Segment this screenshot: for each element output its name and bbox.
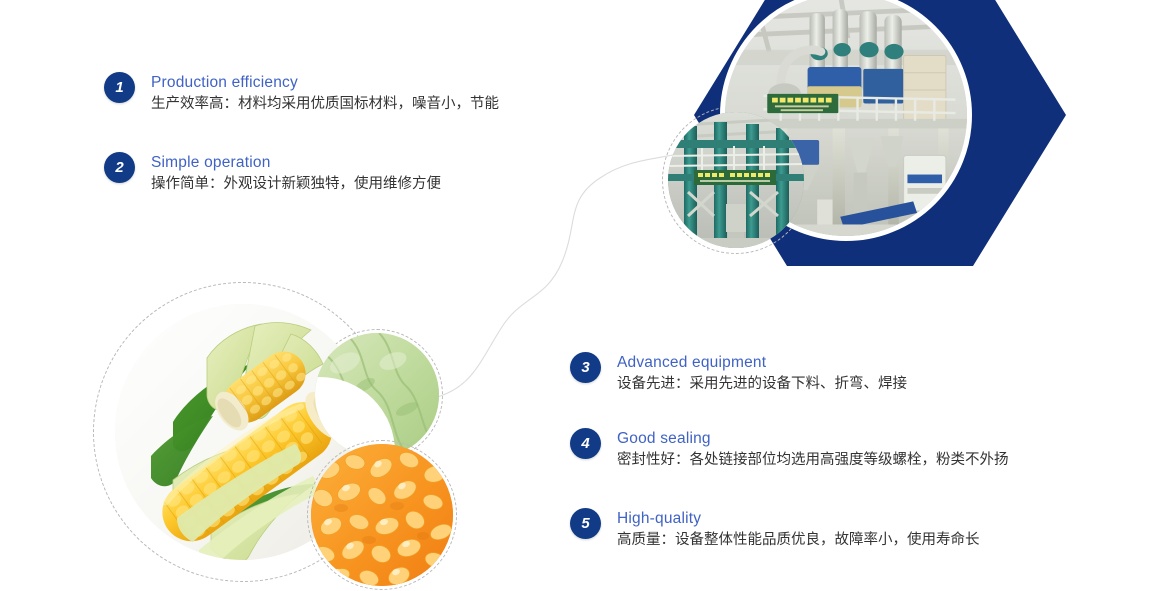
feature-title-2: Simple operation bbox=[151, 153, 441, 172]
feature-badge-1: 1 bbox=[104, 72, 135, 103]
feature-description-4: 密封性好：各处链接部位均选用高强度等级螺栓，粉类不外扬 bbox=[617, 450, 1009, 471]
feature-item-4: 4 Good sealing 密封性好：各处链接部位均选用高强度等级螺栓，粉类不… bbox=[570, 428, 1009, 471]
feature-item-2: 2 Simple operation 操作简单：外观设计新颖独特，使用维修方便 bbox=[104, 152, 441, 195]
feature-title-1: Production efficiency bbox=[151, 73, 499, 92]
feature-text-4: Good sealing 密封性好：各处链接部位均选用高强度等级螺栓，粉类不外扬 bbox=[617, 428, 1009, 471]
green-milling-line-photo bbox=[668, 112, 804, 248]
infographic-canvas: 1 Production efficiency 生产效率高：材料均采用优质国标材… bbox=[0, 0, 1154, 591]
corn-media-group bbox=[93, 282, 453, 591]
feature-description-3: 设备先进：采用先进的设备下料、折弯、焊接 bbox=[617, 374, 907, 395]
feature-text-5: High-quality 高质量：设备整体性能品质优良，故障率小，使用寿命长 bbox=[617, 508, 980, 551]
feature-text-1: Production efficiency 生产效率高：材料均采用优质国标材料，… bbox=[151, 72, 499, 115]
feature-title-5: High-quality bbox=[617, 509, 980, 528]
feature-text-3: Advanced equipment 设备先进：采用先进的设备下料、折弯、焊接 bbox=[617, 352, 907, 395]
feature-badge-5: 5 bbox=[570, 508, 601, 539]
feature-item-3: 3 Advanced equipment 设备先进：采用先进的设备下料、折弯、焊… bbox=[570, 352, 907, 395]
feature-description-5: 高质量：设备整体性能品质优良，故障率小，使用寿命长 bbox=[617, 530, 980, 551]
feature-badge-2: 2 bbox=[104, 152, 135, 183]
feature-item-1: 1 Production efficiency 生产效率高：材料均采用优质国标材… bbox=[104, 72, 499, 115]
corn-kernels-photo bbox=[311, 444, 453, 586]
feature-badge-4: 4 bbox=[570, 428, 601, 459]
feature-title-3: Advanced equipment bbox=[617, 353, 907, 372]
feature-item-5: 5 High-quality 高质量：设备整体性能品质优良，故障率小，使用寿命长 bbox=[570, 508, 980, 551]
feature-description-1: 生产效率高：材料均采用优质国标材料，噪音小，节能 bbox=[151, 94, 499, 115]
machinery-media-group bbox=[694, 0, 1066, 266]
feature-title-4: Good sealing bbox=[617, 429, 1009, 448]
corn-paste-photo bbox=[315, 333, 439, 457]
feature-text-2: Simple operation 操作简单：外观设计新颖独特，使用维修方便 bbox=[151, 152, 441, 195]
feature-badge-3: 3 bbox=[570, 352, 601, 383]
feature-description-2: 操作简单：外观设计新颖独特，使用维修方便 bbox=[151, 174, 441, 195]
